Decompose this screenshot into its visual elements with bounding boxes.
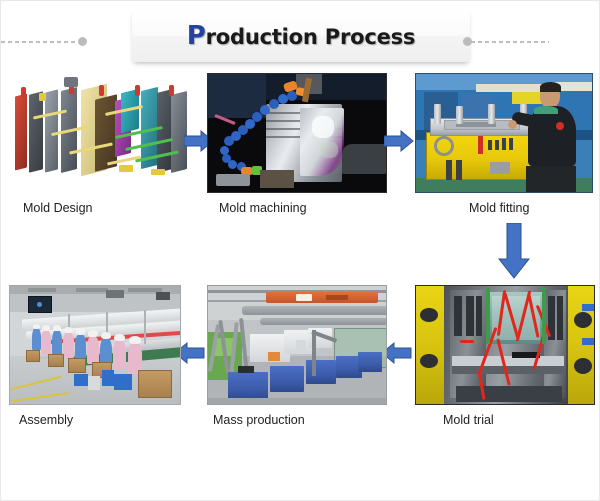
mass-production-image bbox=[207, 285, 387, 405]
mold-design-image bbox=[9, 73, 194, 193]
caption-mass-production: Mass production bbox=[213, 413, 305, 427]
production-process-infographic: Production Process bbox=[0, 0, 600, 501]
title-banner-area: Production Process bbox=[1, 10, 600, 62]
mold-machining-image bbox=[207, 73, 387, 193]
caption-assembly: Assembly bbox=[19, 413, 73, 427]
step-panel-mold-design[interactable]: Mold Design bbox=[9, 73, 194, 193]
caption-mold-fitting: Mold fitting bbox=[469, 201, 529, 215]
page-title-rest: roduction Process bbox=[206, 25, 416, 49]
mold-fitting-image bbox=[415, 73, 593, 193]
step-panel-assembly[interactable]: Assembly bbox=[9, 285, 181, 405]
page-title: Production Process bbox=[187, 23, 415, 49]
banner-decoration-left-line bbox=[1, 41, 79, 43]
arrow-machining-to-fitting bbox=[384, 130, 414, 152]
banner-decoration-right-line bbox=[471, 41, 549, 43]
caption-mold-design: Mold Design bbox=[23, 201, 92, 215]
step-panel-mold-machining[interactable]: Mold machining bbox=[207, 73, 387, 193]
caption-mold-trial: Mold trial bbox=[443, 413, 494, 427]
page-title-initial: P bbox=[187, 21, 206, 51]
mold-trial-image bbox=[415, 285, 595, 405]
title-banner: Production Process bbox=[132, 10, 470, 62]
caption-mold-machining: Mold machining bbox=[219, 201, 307, 215]
assembly-image bbox=[9, 285, 181, 405]
arrow-fitting-to-trial bbox=[497, 223, 531, 279]
step-panel-mass-production[interactable]: Mass production bbox=[207, 285, 387, 405]
step-panel-mold-trial[interactable]: Mold trial bbox=[415, 285, 595, 405]
banner-decoration-left-dot bbox=[78, 37, 87, 46]
step-panel-mold-fitting[interactable]: Mold fitting bbox=[415, 73, 593, 193]
